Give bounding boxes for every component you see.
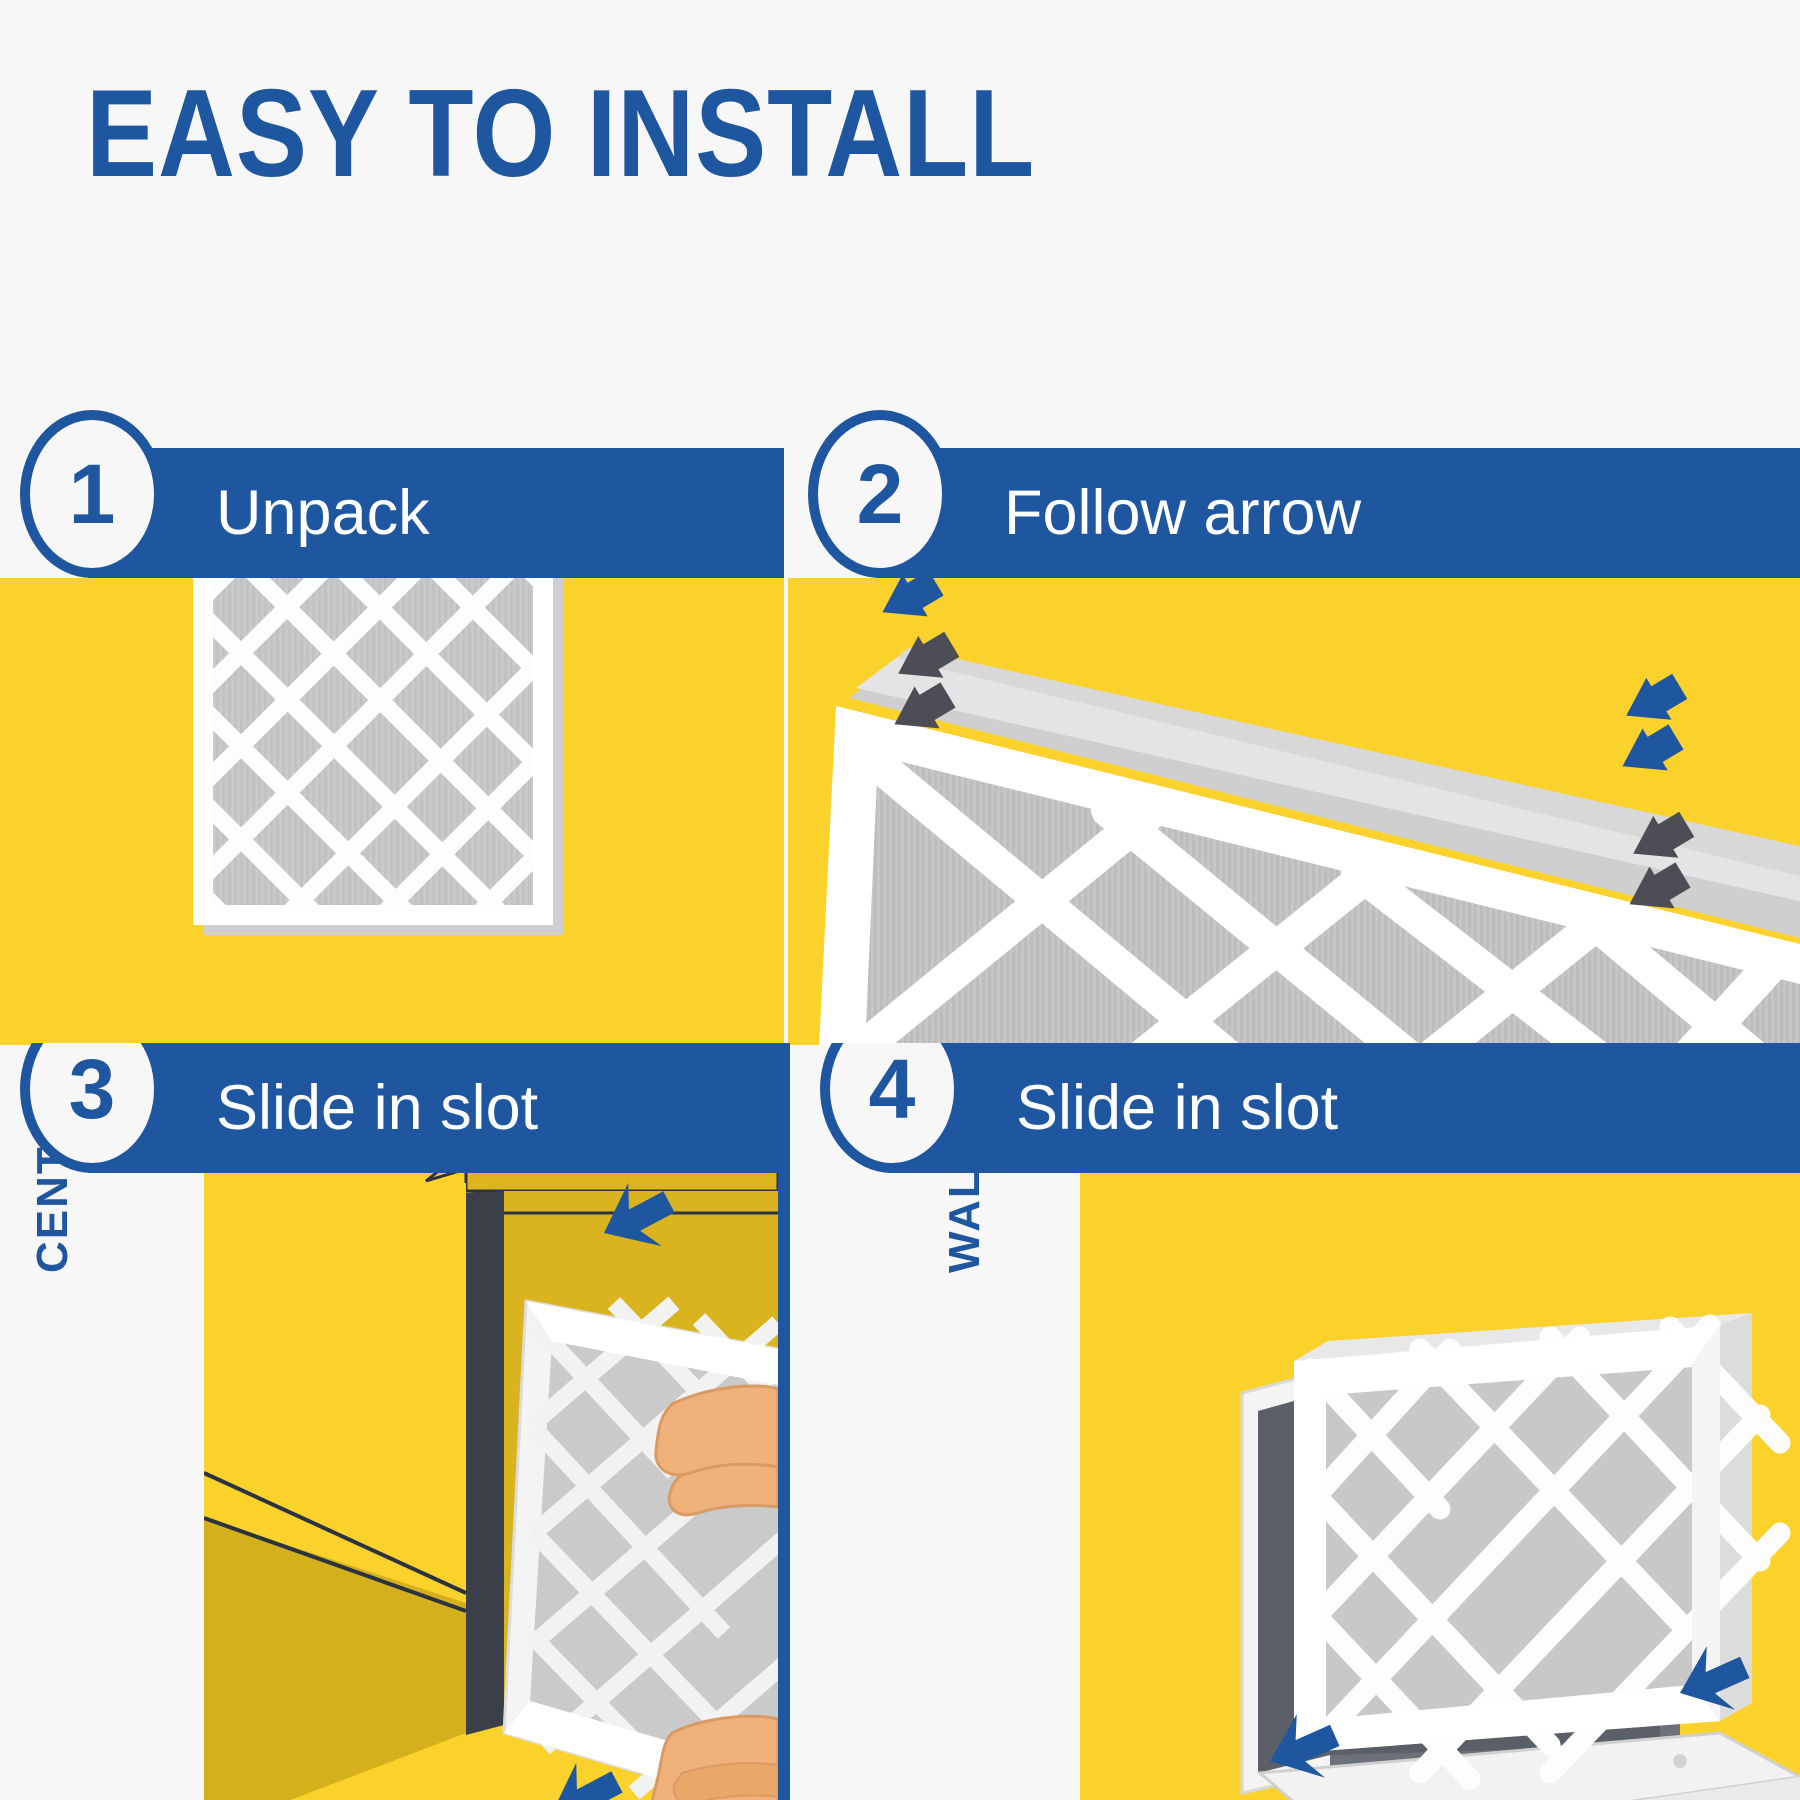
- airflow-arrow-blue-left: [854, 578, 969, 646]
- page-title: EASY TO INSTALL: [86, 72, 1035, 196]
- step-panel-3: Slide in slot 3 CENTRAL UNIT: [0, 1043, 790, 1800]
- airflow-arrow-blue-right: [1594, 655, 1709, 800]
- step-1-label: Unpack: [216, 482, 430, 545]
- air-filter-front: [193, 578, 553, 925]
- step-4-label: Slide in slot: [1016, 1077, 1338, 1140]
- hand-upper: [656, 1386, 778, 1515]
- step-3-right-edge: [778, 1161, 790, 1800]
- step-4-body: [1080, 1173, 1800, 1800]
- infographic-canvas: EASY TO INSTALL Unpack 1: [0, 0, 1800, 1800]
- step-1-number-circle: 1: [20, 410, 164, 578]
- wall-unit-illustration: [1080, 1173, 1800, 1800]
- step-2-number: 2: [857, 446, 904, 543]
- filter-lattice-icon: [213, 578, 533, 905]
- step-3-number: 3: [69, 1043, 116, 1138]
- step-panel-2: Follow arrow 2: [788, 400, 1800, 1045]
- central-unit-illustration: [204, 1173, 778, 1800]
- wall-filter: [1294, 1313, 1780, 1779]
- air-filter-tilted: [788, 578, 1800, 1045]
- step-2-number-circle: 2: [808, 410, 952, 578]
- filter-media: [213, 578, 533, 905]
- step-1-body: [0, 578, 784, 1045]
- step-panel-4: Slide in slot 4 WALL UNIT: [800, 1043, 1800, 1800]
- step-3-body: [204, 1173, 778, 1800]
- step-4-number: 4: [869, 1043, 916, 1138]
- step-2-body: [788, 578, 1800, 1045]
- step-2-label: Follow arrow: [1004, 482, 1361, 545]
- step-1-header-bar: [88, 448, 784, 578]
- step-panel-1: Unpack 1: [0, 400, 784, 1045]
- step-1-number: 1: [69, 446, 116, 543]
- step-3-label: Slide in slot: [216, 1077, 538, 1140]
